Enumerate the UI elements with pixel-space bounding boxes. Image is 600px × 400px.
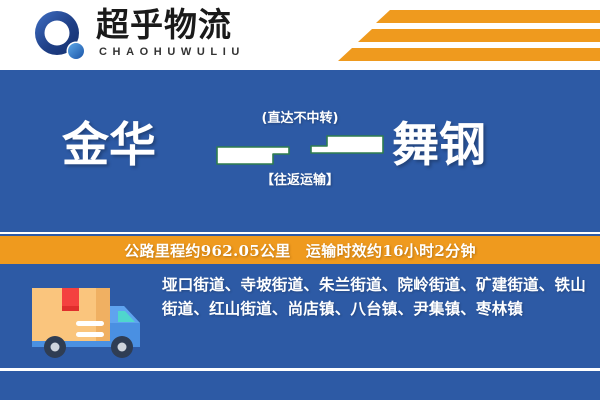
route-panel: 金华 (直达不中转) 【往返运输】 舞钢	[0, 74, 600, 232]
destination-city: 舞钢	[392, 118, 486, 174]
brand-name-en: CHAOHUWULIU	[99, 46, 245, 58]
stripe-2	[358, 29, 600, 42]
circle-crescent-logo-icon	[33, 10, 89, 62]
distance-duration-text: 公路里程约962.05公里 运输时效约16小时2分钟	[124, 240, 476, 261]
coverage-panel: 垭口街道、寺坡街道、朱兰街道、院岭街道、矿建街道、铁山街道、红山街道、尚店镇、八…	[0, 266, 600, 368]
stripe-3	[338, 48, 600, 61]
route-note-direct: (直达不中转)	[215, 110, 385, 128]
logistics-route-banner: 超乎物流 CHAOHUWULIU 金华 (直达不中转) 【往返运输】	[0, 0, 600, 400]
footer-panel	[0, 371, 600, 400]
route-center-block: (直达不中转) 【往返运输】	[215, 110, 385, 190]
banner-header: 超乎物流 CHAOHUWULIU	[0, 0, 600, 70]
stripe-1	[376, 10, 600, 23]
distance-duration-bar: 公路里程约962.05公里 运输时效约16小时2分钟	[0, 234, 600, 266]
decorative-stripes	[300, 0, 600, 70]
delivery-truck-icon	[18, 278, 148, 358]
origin-city: 金华	[62, 118, 156, 174]
coverage-district-list: 垭口街道、寺坡街道、朱兰街道、院岭街道、矿建街道、铁山街道、红山街道、尚店镇、八…	[162, 274, 586, 321]
route-note-roundtrip: 【往返运输】	[215, 172, 385, 190]
bidirectional-arrow-icon	[215, 132, 385, 168]
brand-name-zh: 超乎物流	[96, 6, 232, 44]
